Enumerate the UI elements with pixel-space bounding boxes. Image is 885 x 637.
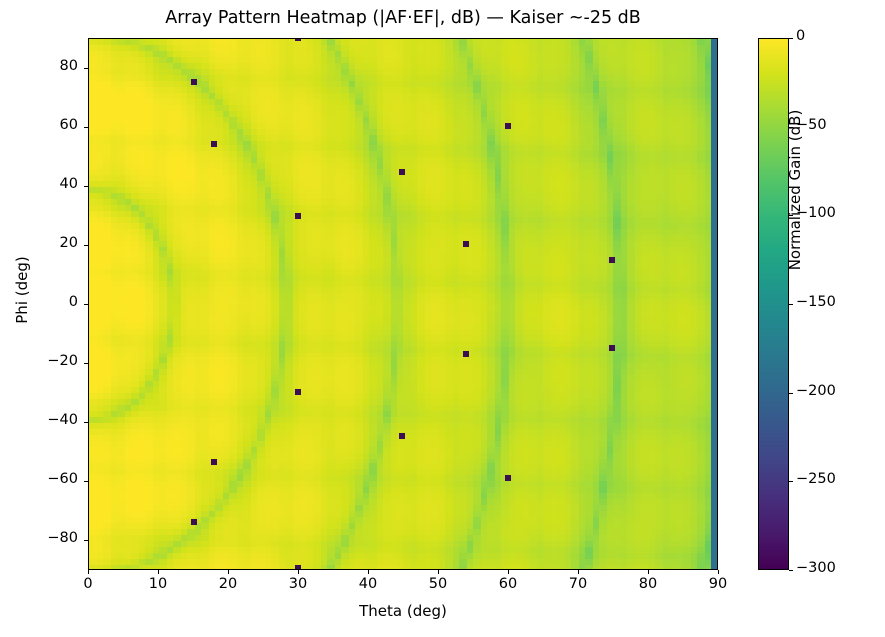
page-title: Array Pattern Heatmap (|AF·EF|, dB) — Ka… — [88, 8, 718, 28]
chart-figure: Array Pattern Heatmap (|AF·EF|, dB) — Ka… — [0, 0, 885, 637]
x-tick-label: 40 — [348, 576, 388, 592]
x-tick-mark — [718, 570, 719, 574]
y-axis-label: Phi (deg) — [13, 230, 31, 350]
heatmap-canvas[interactable] — [89, 39, 717, 569]
colorbar-tick-mark — [789, 304, 793, 305]
colorbar-tick-label: −200 — [796, 383, 836, 399]
y-tick-mark — [84, 422, 88, 423]
x-tick-label: 10 — [138, 576, 178, 592]
colorbar-tick-label: 0 — [796, 28, 805, 44]
y-tick-mark — [84, 540, 88, 541]
y-tick-mark — [84, 363, 88, 364]
y-tick-mark — [84, 304, 88, 305]
colorbar-tick-mark — [789, 393, 793, 394]
x-tick-mark — [228, 570, 229, 574]
colorbar-tick-mark — [789, 38, 793, 39]
colorbar-tick-label: −300 — [796, 560, 836, 576]
colorbar[interactable] — [758, 38, 789, 570]
y-tick-mark — [84, 186, 88, 187]
x-tick-label: 0 — [68, 576, 108, 592]
x-tick-mark — [368, 570, 369, 574]
x-tick-mark — [158, 570, 159, 574]
x-tick-mark — [438, 570, 439, 574]
colorbar-canvas — [759, 39, 788, 569]
y-tick-mark — [84, 481, 88, 482]
y-tick-label: 60 — [30, 117, 78, 133]
y-tick-label: −40 — [30, 412, 78, 428]
y-tick-mark — [84, 127, 88, 128]
x-tick-mark — [298, 570, 299, 574]
heatmap-plot-area[interactable] — [88, 38, 718, 570]
y-tick-label: 20 — [30, 235, 78, 251]
colorbar-tick-mark — [789, 481, 793, 482]
x-tick-mark — [578, 570, 579, 574]
y-tick-label: −20 — [30, 353, 78, 369]
y-tick-label: 80 — [30, 58, 78, 74]
colorbar-label: Normalized Gain (dB) — [786, 90, 804, 290]
x-tick-label: 90 — [698, 576, 738, 592]
x-tick-label: 30 — [278, 576, 318, 592]
x-axis-label: Theta (deg) — [88, 602, 718, 620]
x-tick-label: 70 — [558, 576, 598, 592]
x-tick-label: 50 — [418, 576, 458, 592]
x-tick-label: 60 — [488, 576, 528, 592]
y-tick-label: −60 — [30, 471, 78, 487]
y-tick-label: −80 — [30, 530, 78, 546]
x-tick-label: 20 — [208, 576, 248, 592]
colorbar-tick-label: −250 — [796, 471, 836, 487]
colorbar-tick-label: −150 — [796, 294, 836, 310]
x-tick-label: 80 — [628, 576, 668, 592]
y-tick-mark — [84, 245, 88, 246]
colorbar-tick-mark — [789, 570, 793, 571]
x-tick-mark — [508, 570, 509, 574]
x-tick-mark — [648, 570, 649, 574]
x-tick-mark — [88, 570, 89, 574]
y-tick-mark — [84, 68, 88, 69]
y-tick-label: 0 — [30, 294, 78, 310]
y-tick-label: 40 — [30, 176, 78, 192]
